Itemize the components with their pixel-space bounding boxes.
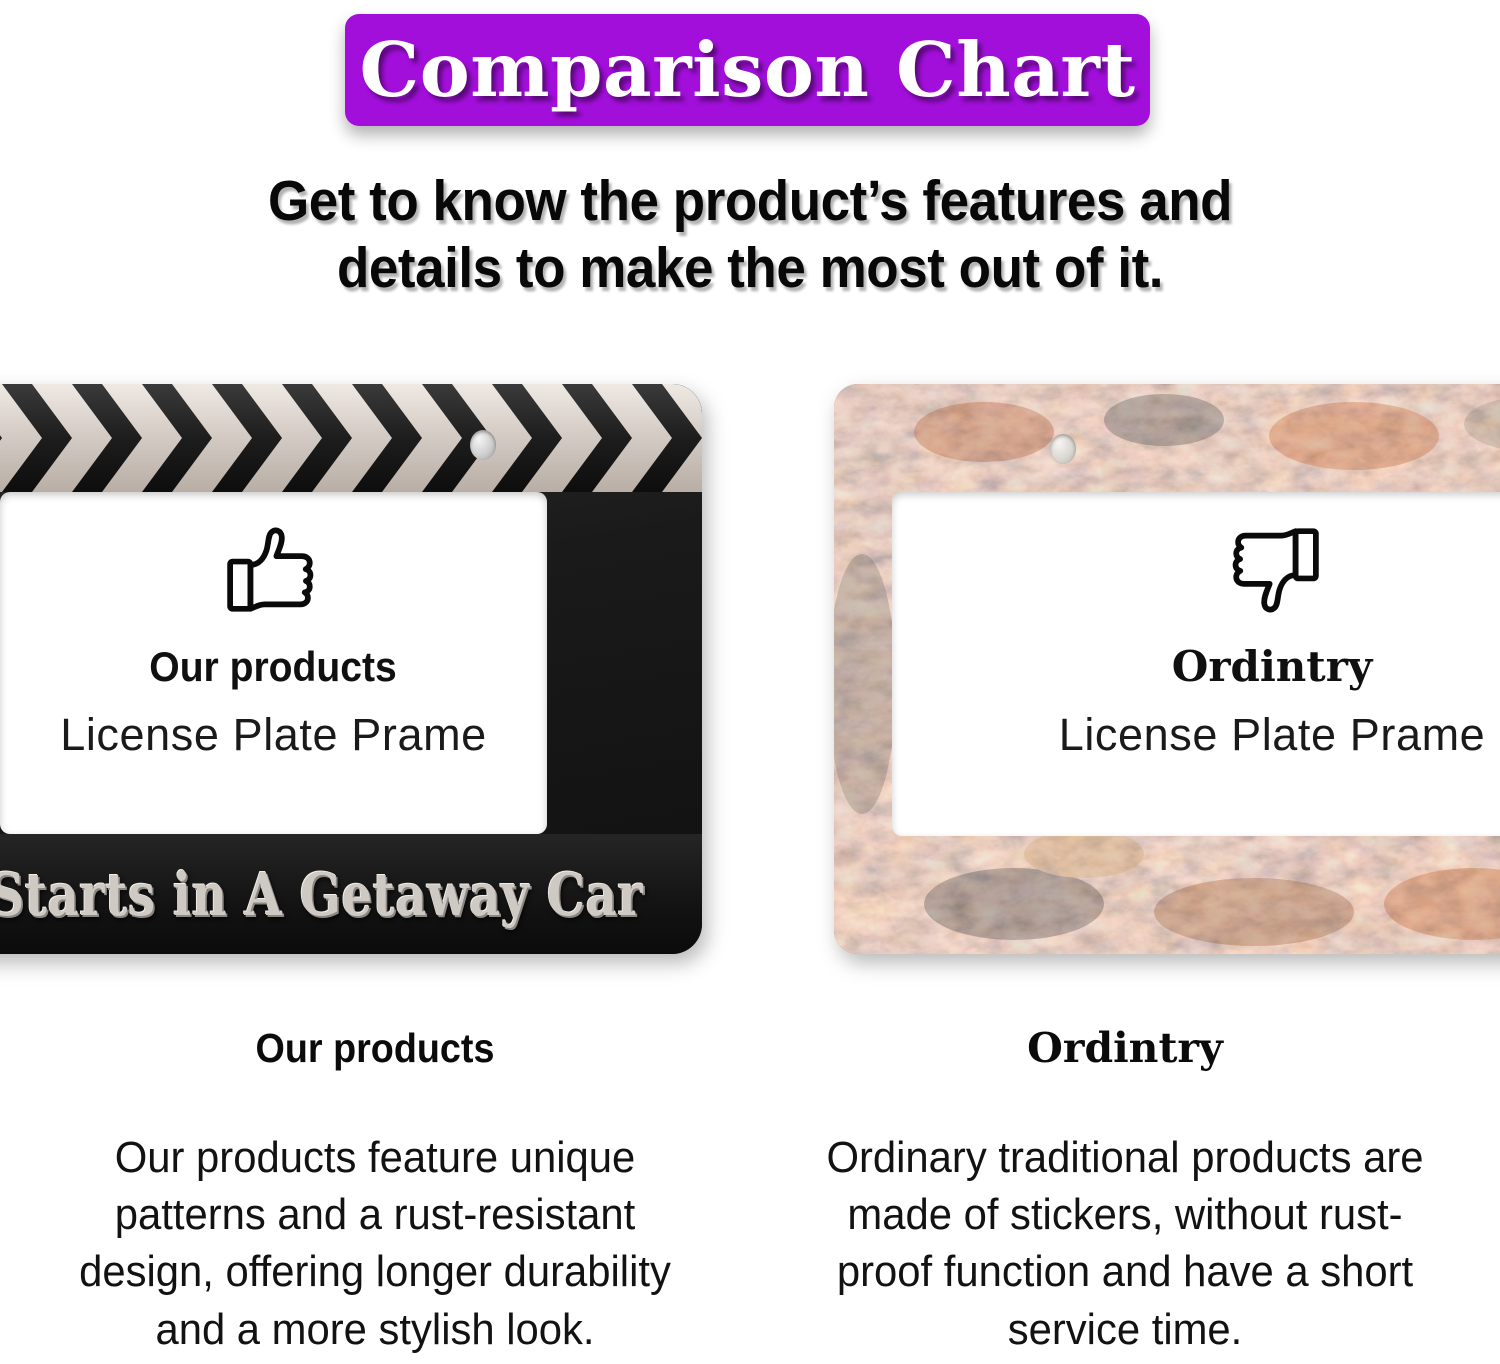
title-banner: Comparison Chart (345, 14, 1150, 126)
right-window-content: Ordintry License Plate Prame (892, 492, 1500, 836)
summary-heading-right: Ordintry (750, 1028, 1500, 1069)
our-product-frame-image: d Starts in A Getaway Car Our products L… (0, 384, 702, 954)
black-license-plate-frame: d Starts in A Getaway Car Our products L… (0, 384, 702, 954)
ordinary-product-frame-image: Ordintry License Plate Prame (834, 384, 1500, 954)
summary-heading-left: Our products (30, 1028, 720, 1069)
plate-caption-left: License Plate Prame (60, 712, 487, 757)
comparison-chart-page: Comparison Chart Get to know the product… (0, 0, 1500, 1364)
brand-name-right: Ordintry (1172, 646, 1373, 688)
thumbs-up-icon (220, 516, 328, 624)
page-subtitle: Get to know the product’s features and d… (53, 168, 1448, 303)
chevron-pattern-strip (0, 384, 702, 492)
page-title: Comparison Chart (360, 33, 1136, 108)
subtitle-line-1: Get to know the product’s features and (53, 168, 1448, 235)
frame-bottom-slogan-bar: d Starts in A Getaway Car (0, 834, 702, 954)
license-plate-window-right: Ordintry License Plate Prame (892, 492, 1500, 836)
summary-body-left: Our products feature unique patterns and… (19, 1129, 732, 1358)
summary-column-ordintry: Ordintry Ordinary traditional products a… (750, 1028, 1500, 1358)
summary-column-our-products: Our products Our products feature unique… (0, 1028, 750, 1358)
brand-name-left: Our products (150, 646, 397, 688)
summary-body-right: Ordinary traditional products are made o… (769, 1129, 1482, 1358)
license-plate-window-left: Our products License Plate Prame (0, 492, 547, 834)
rusty-license-plate-frame: Ordintry License Plate Prame (834, 384, 1500, 954)
frame-bottom-slogan-text: d Starts in A Getaway Car (0, 860, 643, 929)
thumbs-down-icon (1218, 516, 1326, 624)
screw-hole-right (1050, 434, 1076, 464)
subtitle-line-2: details to make the most out of it. (53, 235, 1448, 302)
chevron-pattern-svg (0, 384, 702, 492)
plate-caption-right: License Plate Prame (1059, 712, 1486, 757)
screw-hole-left (470, 430, 496, 460)
left-window-content: Our products License Plate Prame (0, 492, 547, 834)
